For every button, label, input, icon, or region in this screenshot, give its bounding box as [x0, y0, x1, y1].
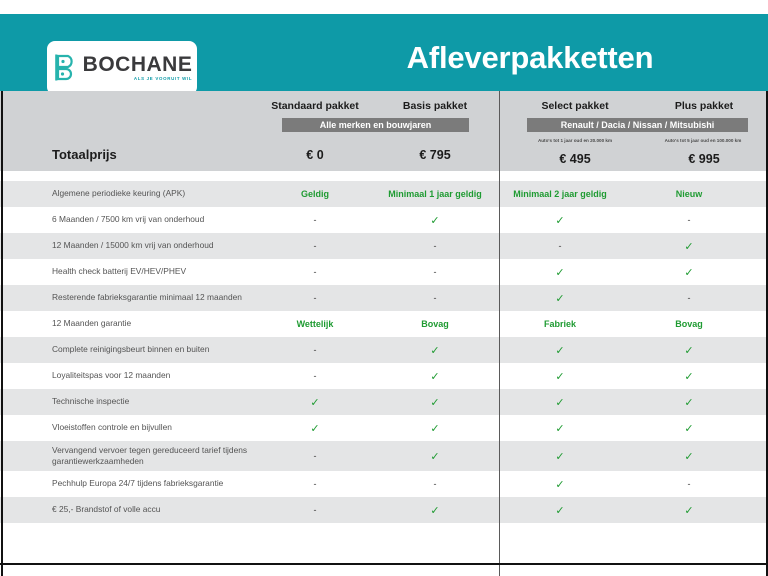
row-cell: ✓ [495, 344, 625, 357]
row-label: Loyaliteitspas voor 12 maanden [0, 370, 255, 381]
row-cell: - [255, 267, 375, 277]
check-icon: ✓ [430, 345, 439, 357]
row-cell: ✓ [495, 422, 625, 435]
row-cell: ✓ [625, 422, 753, 435]
logo-wordmark: BOCHANE [83, 54, 193, 75]
check-icon: ✓ [555, 397, 564, 409]
table-row: Algemene periodieke keuring (APK)GeldigM… [0, 181, 768, 207]
dash-icon: - [314, 215, 317, 225]
package-name-select: Select pakket [510, 100, 640, 112]
check-icon: ✓ [430, 397, 439, 409]
table-row: Loyaliteitspas voor 12 maanden-✓✓✓ [0, 363, 768, 389]
row-cell: - [375, 241, 495, 251]
row-cell: - [255, 505, 375, 515]
row-cell: ✓ [495, 370, 625, 383]
row-label: Technische inspectie [0, 396, 255, 407]
row-cell: ✓ [375, 370, 495, 383]
check-icon: ✓ [684, 267, 693, 279]
check-icon: ✓ [310, 397, 319, 409]
check-icon: ✓ [555, 293, 564, 305]
row-cell: - [375, 479, 495, 489]
package-price-basis: € 795 [375, 148, 495, 162]
dash-icon: - [688, 293, 691, 303]
row-cell: - [625, 293, 753, 303]
check-icon: ✓ [430, 371, 439, 383]
package-subnote-plus: Auto's tot 5 jaar oud en 100.000 km [638, 136, 768, 146]
dash-icon: - [314, 267, 317, 277]
row-cell: ✓ [255, 396, 375, 409]
row-cell: ✓ [495, 450, 625, 463]
row-cell: - [375, 267, 495, 277]
check-icon: ✓ [684, 241, 693, 253]
table-row: € 25,- Brandstof of volle accu-✓✓✓ [0, 497, 768, 523]
check-icon: ✓ [684, 505, 693, 517]
comparison-table: Algemene periodieke keuring (APK)GeldigM… [0, 171, 768, 556]
row-cell: Minimaal 1 jaar geldig [375, 189, 495, 199]
row-label: Algemene periodieke keuring (APK) [0, 188, 255, 199]
row-cell: Bovag [375, 319, 495, 329]
row-cell: ✓ [625, 344, 753, 357]
row-cell: ✓ [625, 266, 753, 279]
row-cell: ✓ [625, 396, 753, 409]
table-row: Vervangend vervoer tegen gereduceerd tar… [0, 441, 768, 471]
table-row: Health check batterij EV/HEV/PHEV--✓✓ [0, 259, 768, 285]
row-cell: ✓ [495, 214, 625, 227]
dash-icon: - [314, 371, 317, 381]
column-group-divider [499, 91, 500, 576]
row-cell: ✓ [625, 240, 753, 253]
table-row: Technische inspectie✓✓✓✓ [0, 389, 768, 415]
check-icon: ✓ [310, 423, 319, 435]
row-cell: Geldig [255, 189, 375, 199]
row-cell: - [255, 451, 375, 461]
row-label: 12 Maanden garantie [0, 318, 255, 329]
check-icon: ✓ [684, 397, 693, 409]
dash-icon: - [314, 479, 317, 489]
table-row: 12 Maanden / 15000 km vrij van onderhoud… [0, 233, 768, 259]
row-cell: ✓ [495, 292, 625, 305]
row-cell: ✓ [495, 504, 625, 517]
row-label: 6 Maanden / 7500 km vrij van onderhoud [0, 214, 255, 225]
dash-icon: - [314, 293, 317, 303]
row-label: Health check batterij EV/HEV/PHEV [0, 266, 255, 277]
row-cell: - [255, 479, 375, 489]
row-label: € 25,- Brandstof of volle accu [0, 504, 255, 515]
row-cell: - [255, 293, 375, 303]
row-cell: ✓ [495, 478, 625, 491]
row-cell: ✓ [625, 370, 753, 383]
bochane-b-mark-icon [52, 53, 78, 83]
row-cell: ✓ [625, 504, 753, 517]
check-icon: ✓ [555, 423, 564, 435]
brand-bar-renault-group: Renault / Dacia / Nissan / Mitsubishi [527, 118, 748, 132]
row-cell: ✓ [625, 450, 753, 463]
table-row: Resterende fabrieksgarantie minimaal 12 … [0, 285, 768, 311]
check-icon: ✓ [430, 505, 439, 517]
check-icon: ✓ [555, 451, 564, 463]
row-label: 12 Maanden / 15000 km vrij van onderhoud [0, 240, 255, 251]
dash-icon: - [434, 479, 437, 489]
dash-icon: - [434, 241, 437, 251]
dash-icon: - [434, 267, 437, 277]
table-top-spacer [0, 171, 768, 181]
check-icon: ✓ [555, 371, 564, 383]
check-icon: ✓ [684, 451, 693, 463]
row-cell: - [255, 241, 375, 251]
package-subnote-select: Auto's tot 1 jaar oud en 20.000 km [512, 136, 638, 146]
table-row: Pechhulp Europa 24/7 tijdens fabrieksgar… [0, 471, 768, 497]
row-cell: Minimaal 2 jaar geldig [495, 189, 625, 199]
row-cell: ✓ [375, 504, 495, 517]
check-icon: ✓ [684, 345, 693, 357]
row-cell: ✓ [375, 214, 495, 227]
dash-icon: - [434, 293, 437, 303]
row-label: Vervangend vervoer tegen gereduceerd tar… [0, 445, 255, 468]
row-cell: ✓ [255, 422, 375, 435]
row-cell: - [255, 215, 375, 225]
dash-icon: - [314, 345, 317, 355]
row-cell: - [255, 371, 375, 381]
check-icon: ✓ [555, 267, 564, 279]
afleverpakketten-poster: BOCHANE ALS JE VOORUIT WIL Afleverpakket… [0, 0, 768, 576]
package-price-standaard: € 0 [255, 148, 375, 162]
logo-tagline: ALS JE VOORUIT WIL [134, 77, 192, 81]
row-label: Vloeistoffen controle en bijvullen [0, 422, 255, 433]
row-cell: ✓ [375, 396, 495, 409]
bochane-logo: BOCHANE ALS JE VOORUIT WIL [47, 41, 197, 95]
check-icon: ✓ [555, 215, 564, 227]
total-price-label: Totaalprijs [52, 147, 117, 162]
page-title: Afleverpakketten [330, 40, 730, 76]
dash-icon: - [559, 241, 562, 251]
row-label: Pechhulp Europa 24/7 tijdens fabrieksgar… [0, 478, 255, 489]
row-label: Resterende fabrieksgarantie minimaal 12 … [0, 292, 255, 303]
check-icon: ✓ [430, 423, 439, 435]
row-cell: ✓ [375, 344, 495, 357]
package-name-basis: Basis pakket [375, 100, 495, 112]
brand-bar-all-makes: Alle merken en bouwjaren [282, 118, 469, 132]
row-label: Complete reinigingsbeurt binnen en buite… [0, 344, 255, 355]
row-cell: - [495, 241, 625, 251]
table-bottom-spacer [0, 523, 768, 556]
check-icon: ✓ [555, 345, 564, 357]
check-icon: ✓ [555, 505, 564, 517]
row-cell: Fabriek [495, 319, 625, 329]
frame-bottom-border [0, 563, 768, 565]
row-cell: Wettelijk [255, 319, 375, 329]
dash-icon: - [314, 451, 317, 461]
row-cell: ✓ [495, 396, 625, 409]
row-cell: - [625, 215, 753, 225]
table-row: Complete reinigingsbeurt binnen en buite… [0, 337, 768, 363]
check-icon: ✓ [555, 479, 564, 491]
dash-icon: - [688, 215, 691, 225]
check-icon: ✓ [430, 451, 439, 463]
header-band: BOCHANE ALS JE VOORUIT WIL Afleverpakket… [0, 14, 768, 91]
table-row: 6 Maanden / 7500 km vrij van onderhoud-✓… [0, 207, 768, 233]
dash-icon: - [688, 479, 691, 489]
row-cell: - [625, 479, 753, 489]
table-row: Vloeistoffen controle en bijvullen✓✓✓✓ [0, 415, 768, 441]
row-cell: ✓ [375, 450, 495, 463]
row-cell: Nieuw [625, 189, 753, 199]
row-cell: ✓ [495, 266, 625, 279]
package-price-plus: € 995 [640, 152, 768, 166]
package-price-select: € 495 [510, 152, 640, 166]
dash-icon: - [314, 505, 317, 515]
row-cell: ✓ [375, 422, 495, 435]
table-row: 12 Maanden garantieWettelijkBovagFabriek… [0, 311, 768, 337]
check-icon: ✓ [684, 423, 693, 435]
package-name-standaard: Standaard pakket [255, 100, 375, 112]
dash-icon: - [314, 241, 317, 251]
frame-left-border [1, 91, 3, 576]
check-icon: ✓ [684, 371, 693, 383]
package-name-plus: Plus pakket [640, 100, 768, 112]
row-cell: - [375, 293, 495, 303]
check-icon: ✓ [430, 215, 439, 227]
row-cell: Bovag [625, 319, 753, 329]
row-cell: - [255, 345, 375, 355]
